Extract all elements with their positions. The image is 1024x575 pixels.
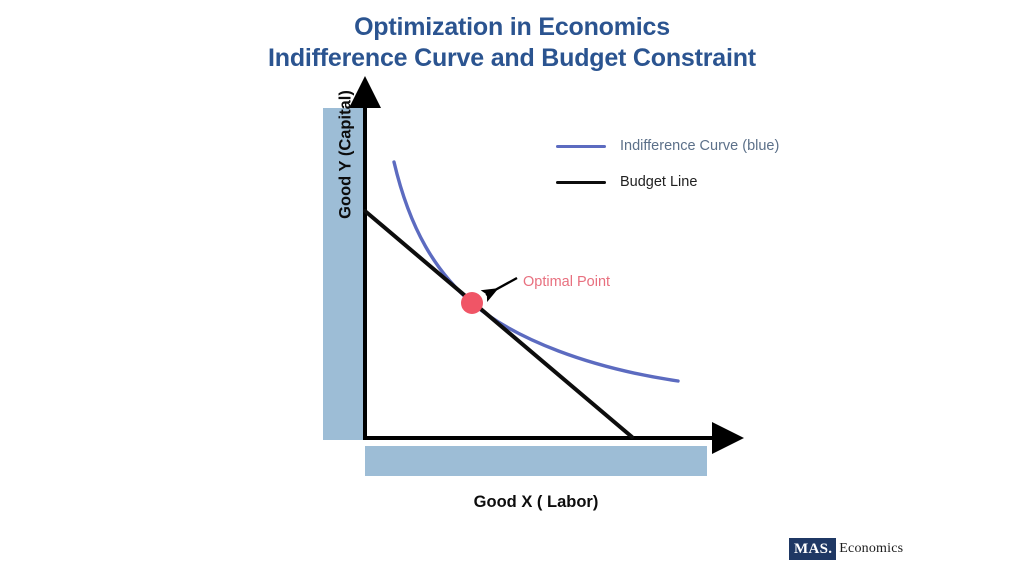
optimal-point-label: Optimal Point bbox=[523, 274, 610, 290]
legend-label-indifference-curve: Indifference Curve (blue) bbox=[620, 138, 779, 154]
y-axis-title: Good Y (Capital) bbox=[337, 55, 356, 255]
x-axis-title: Good X ( Labor) bbox=[365, 493, 707, 512]
legend-swatch-budget-line bbox=[556, 181, 606, 184]
brand-mark: MAS. bbox=[789, 538, 836, 560]
optimal-point-marker bbox=[461, 292, 483, 314]
brand-logo: MAS. Economics bbox=[789, 538, 903, 560]
optimal-point-arrow bbox=[486, 278, 517, 295]
brand-word: Economics bbox=[839, 541, 903, 557]
legend-swatch-indifference-curve bbox=[556, 145, 606, 148]
legend-item-budget-line: Budget Line bbox=[556, 164, 779, 200]
chart-legend: Indifference Curve (blue) Budget Line bbox=[556, 128, 779, 200]
chart-area: Good Y (Capital) Good X ( Labor) Indiffe… bbox=[0, 0, 1024, 575]
legend-label-budget-line: Budget Line bbox=[620, 174, 697, 190]
decor-band-horizontal bbox=[365, 446, 707, 476]
chart-svg bbox=[0, 0, 1024, 575]
legend-item-indifference-curve: Indifference Curve (blue) bbox=[556, 128, 779, 164]
budget-line bbox=[365, 211, 632, 437]
